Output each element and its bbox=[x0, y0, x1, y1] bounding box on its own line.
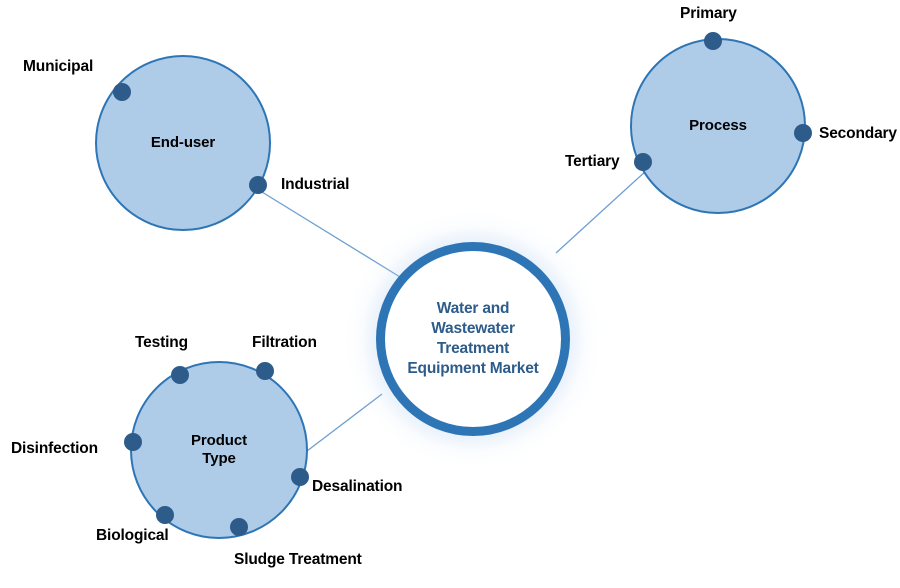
node-dot-secondary[interactable] bbox=[794, 124, 812, 142]
node-label-primary: Primary bbox=[680, 5, 737, 23]
node-label-municipal: Municipal bbox=[23, 58, 93, 76]
node-dot-disinfection[interactable] bbox=[124, 433, 142, 451]
node-label-testing: Testing bbox=[135, 334, 188, 352]
node-dot-municipal[interactable] bbox=[113, 83, 131, 101]
node-dot-industrial[interactable] bbox=[249, 176, 267, 194]
node-label-tertiary: Tertiary bbox=[565, 153, 620, 171]
node-dot-desalination[interactable] bbox=[291, 468, 309, 486]
node-label-industrial: Industrial bbox=[281, 176, 349, 194]
node-dot-biological[interactable] bbox=[156, 506, 174, 524]
hub-circle[interactable]: Water and Wastewater Treatment Equipment… bbox=[376, 242, 570, 436]
node-dot-filtration[interactable] bbox=[256, 362, 274, 380]
node-label-filtration: Filtration bbox=[252, 334, 317, 352]
branch-label-process: Process bbox=[689, 117, 747, 135]
node-label-secondary: Secondary bbox=[819, 125, 897, 143]
segmentation-diagram: End-user Process Product Type Water and … bbox=[0, 0, 900, 588]
branch-label-end-user: End-user bbox=[151, 134, 215, 152]
node-label-sludge-treatment: Sludge Treatment bbox=[234, 551, 362, 569]
node-dot-sludge-treatment[interactable] bbox=[230, 518, 248, 536]
branch-bubble-end-user[interactable]: End-user bbox=[95, 55, 271, 231]
node-dot-testing[interactable] bbox=[171, 366, 189, 384]
branch-label-product-type: Product Type bbox=[191, 432, 247, 467]
node-label-desalination: Desalination bbox=[312, 478, 402, 496]
hub-title: Water and Wastewater Treatment Equipment… bbox=[407, 299, 538, 380]
node-label-biological: Biological bbox=[96, 527, 169, 545]
branch-bubble-process[interactable]: Process bbox=[630, 38, 806, 214]
node-dot-tertiary[interactable] bbox=[634, 153, 652, 171]
node-dot-primary[interactable] bbox=[704, 32, 722, 50]
node-label-disinfection: Disinfection bbox=[11, 440, 98, 458]
